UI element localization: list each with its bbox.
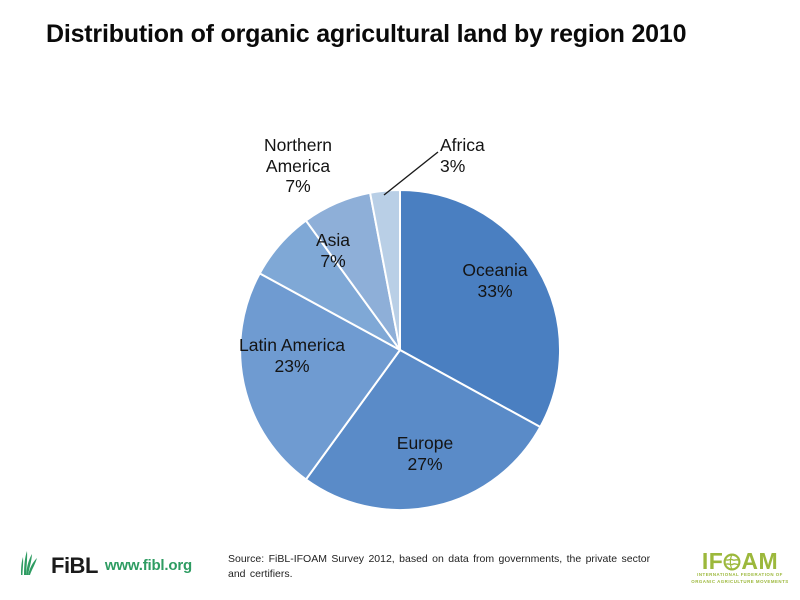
africa-leader-line — [384, 152, 438, 195]
pie-label-oceania: Oceania 33% — [420, 260, 570, 301]
pie-label-northern-america-name-line1: Northern — [228, 135, 368, 156]
pie-label-oceania-value: 33% — [420, 281, 570, 302]
pie-label-latin-america: Latin America 23% — [202, 335, 382, 376]
fibl-url[interactable]: www.fibl.org — [105, 557, 192, 574]
page-title: Distribution of organic agricultural lan… — [46, 18, 756, 51]
pie-label-latin-america-value: 23% — [202, 356, 382, 377]
fibl-logo[interactable]: FiBL www.fibl.org — [18, 550, 192, 581]
fibl-wordmark: FiBL — [51, 553, 98, 579]
footer: FiBL www.fibl.org Source: FiBL-IFOAM Sur… — [0, 536, 800, 600]
pie-label-europe-value: 27% — [350, 454, 500, 475]
ifoam-tagline-line2: ORGANIC AGRICULTURE MOVEMENTS — [688, 579, 792, 586]
source-note: Source: FiBL-IFOAM Survey 2012, based on… — [228, 552, 658, 582]
pie-label-asia-value: 7% — [278, 251, 388, 272]
pie-label-northern-america: Northern America 7% — [228, 135, 368, 197]
pie-label-asia: Asia 7% — [278, 230, 388, 271]
ifoam-wordmark-after: AM — [741, 550, 778, 573]
ifoam-wordmark: IF AM — [688, 550, 792, 572]
pie-label-europe: Europe 27% — [350, 433, 500, 474]
pie-label-africa: Africa 3% — [440, 135, 560, 176]
pie-label-asia-name: Asia — [278, 230, 388, 251]
pie-label-europe-name: Europe — [350, 433, 500, 454]
ifoam-wordmark-before: IF — [702, 550, 723, 573]
fibl-grass-icon — [18, 550, 44, 581]
ifoam-tagline-line1: INTERNATIONAL FEDERATION OF — [688, 572, 792, 579]
pie-label-latin-america-name: Latin America — [202, 335, 382, 356]
globe-icon — [723, 552, 741, 570]
pie-label-northern-america-name-line2: America — [228, 156, 368, 177]
ifoam-logo[interactable]: IF AM INTERNATIONAL FEDERATION OF ORGANI… — [688, 550, 792, 586]
pie-chart: Africa 3% Northern America 7% Asia 7% La… — [0, 95, 800, 535]
pie-label-oceania-name: Oceania — [420, 260, 570, 281]
pie-label-africa-value: 3% — [440, 156, 560, 177]
pie-label-northern-america-value: 7% — [228, 176, 368, 197]
pie-label-africa-name: Africa — [440, 135, 560, 156]
